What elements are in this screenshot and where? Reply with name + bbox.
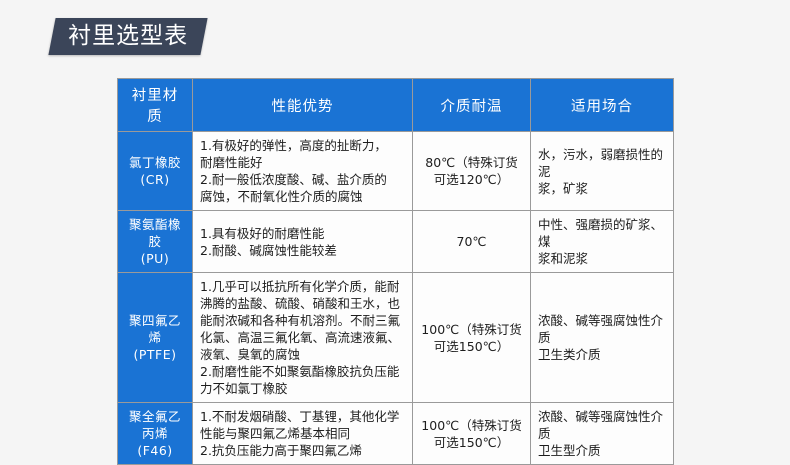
performance-line: 2.耐酸、碱腐蚀性能较差 <box>200 242 405 259</box>
lining-selection-table: 衬里材质 性能优势 介质耐温 适用场合 氯丁橡胶(CR)1.有极好的弹性，高度的… <box>117 78 674 465</box>
temperature-line: 100℃（特殊订货 <box>420 321 523 338</box>
cell-usage: 水，污水，弱磨损性的泥浆，矿浆 <box>531 132 674 211</box>
table-body: 氯丁橡胶(CR)1.有极好的弹性，高度的扯断力，耐磨性能好2.耐一般低浓度酸、碱… <box>118 132 674 465</box>
performance-line: 2.耐磨性能不如聚氨酯橡胶抗负压能 <box>200 363 405 380</box>
performance-line: 耐磨性能好 <box>200 154 405 171</box>
usage-line: 浓酸、碱等强腐蚀性介质 <box>538 408 666 442</box>
performance-line: 1.具有极好的耐磨性能 <box>200 225 405 242</box>
temperature-line: 可选120℃） <box>420 171 523 188</box>
performance-line: 力不如氯丁橡胶 <box>200 380 405 397</box>
column-header-temperature: 介质耐温 <box>413 79 531 132</box>
cell-usage: 中性、强磨损的矿浆、煤浆和泥浆 <box>531 211 674 273</box>
usage-line: 卫生类介质 <box>538 346 666 363</box>
usage-line: 水，污水，弱磨损性的泥 <box>538 146 666 180</box>
cell-performance: 1.具有极好的耐磨性能2.耐酸、碱腐蚀性能较差 <box>193 211 413 273</box>
material-name: 聚四氟乙烯 <box>125 312 185 346</box>
cell-material: 氯丁橡胶(CR) <box>118 132 193 211</box>
temperature-line: 可选150℃） <box>420 338 523 355</box>
usage-line: 卫生型介质 <box>538 442 666 459</box>
temperature-line: 100℃（特殊订货 <box>420 417 523 434</box>
cell-temperature: 70℃ <box>413 211 531 273</box>
usage-line: 浆，矿浆 <box>538 180 666 197</box>
table-row: 聚四氟乙烯(PTFE)1.几乎可以抵抗所有化学介质，能耐沸腾的盐酸、硫酸、硝酸和… <box>118 273 674 403</box>
performance-line: 能耐浓碱和各种有机溶剂。不耐三氟 <box>200 312 405 329</box>
cell-temperature: 100℃（特殊订货可选150℃） <box>413 403 531 465</box>
cell-usage: 浓酸、碱等强腐蚀性介质卫生类介质 <box>531 273 674 403</box>
cell-temperature: 100℃（特殊订货可选150℃） <box>413 273 531 403</box>
cell-temperature: 80℃（特殊订货可选120℃） <box>413 132 531 211</box>
cell-performance: 1.几乎可以抵抗所有化学介质，能耐沸腾的盐酸、硫酸、硝酸和王水，也能耐浓碱和各种… <box>193 273 413 403</box>
performance-line: 沸腾的盐酸、硫酸、硝酸和王水，也 <box>200 295 405 312</box>
performance-line: 化氯、高温三氟化氧、高流速液氟、 <box>200 329 405 346</box>
material-name: 聚全氟乙丙烯 <box>125 408 185 442</box>
material-name: 聚氨酯橡胶 <box>125 216 185 250</box>
performance-line: 1.不耐发烟硝酸、丁基锂，其他化学 <box>200 408 405 425</box>
material-abbreviation: (PU) <box>125 250 185 267</box>
performance-line: 腐蚀，不耐氧化性介质的腐蚀 <box>200 188 405 205</box>
performance-line: 液氧、臭氧的腐蚀 <box>200 346 405 363</box>
temperature-line: 可选150℃） <box>420 434 523 451</box>
cell-usage: 浓酸、碱等强腐蚀性介质卫生型介质 <box>531 403 674 465</box>
cell-material: 聚氨酯橡胶(PU) <box>118 211 193 273</box>
column-header-usage: 适用场合 <box>531 79 674 132</box>
page-title: 衬里选型表 <box>68 23 188 49</box>
performance-line: 性能与聚四氟乙烯基本相同 <box>200 425 405 442</box>
title-banner-shape: 衬里选型表 <box>48 18 207 55</box>
usage-line: 浓酸、碱等强腐蚀性介质 <box>538 312 666 346</box>
performance-line: 2.抗负压能力高于聚四氟乙烯 <box>200 442 405 459</box>
table-row: 聚全氟乙丙烯(F46)1.不耐发烟硝酸、丁基锂，其他化学性能与聚四氟乙烯基本相同… <box>118 403 674 465</box>
material-name: 氯丁橡胶 <box>125 154 185 171</box>
performance-line: 1.有极好的弹性，高度的扯断力， <box>200 137 405 154</box>
material-abbreviation: (PTFE) <box>125 346 185 363</box>
temperature-line: 80℃（特殊订货 <box>420 154 523 171</box>
table-header-row: 衬里材质 性能优势 介质耐温 适用场合 <box>118 79 674 132</box>
table-row: 聚氨酯橡胶(PU)1.具有极好的耐磨性能2.耐酸、碱腐蚀性能较差70℃中性、强磨… <box>118 211 674 273</box>
table-row: 氯丁橡胶(CR)1.有极好的弹性，高度的扯断力，耐磨性能好2.耐一般低浓度酸、碱… <box>118 132 674 211</box>
usage-line: 中性、强磨损的矿浆、煤 <box>538 216 666 250</box>
column-header-performance: 性能优势 <box>193 79 413 132</box>
page-title-banner: 衬里选型表 <box>52 18 204 54</box>
performance-line: 2.耐一般低浓度酸、碱、盐介质的 <box>200 171 405 188</box>
cell-performance: 1.有极好的弹性，高度的扯断力，耐磨性能好2.耐一般低浓度酸、碱、盐介质的腐蚀，… <box>193 132 413 211</box>
material-abbreviation: (CR) <box>125 171 185 188</box>
column-header-material: 衬里材质 <box>118 79 193 132</box>
temperature-line: 70℃ <box>420 233 523 250</box>
cell-material: 聚四氟乙烯(PTFE) <box>118 273 193 403</box>
lining-selection-table-container: 衬里材质 性能优势 介质耐温 适用场合 氯丁橡胶(CR)1.有极好的弹性，高度的… <box>117 78 673 465</box>
cell-material: 聚全氟乙丙烯(F46) <box>118 403 193 465</box>
material-abbreviation: (F46) <box>125 442 185 459</box>
performance-line: 1.几乎可以抵抗所有化学介质，能耐 <box>200 278 405 295</box>
cell-performance: 1.不耐发烟硝酸、丁基锂，其他化学性能与聚四氟乙烯基本相同2.抗负压能力高于聚四… <box>193 403 413 465</box>
usage-line: 浆和泥浆 <box>538 250 666 267</box>
